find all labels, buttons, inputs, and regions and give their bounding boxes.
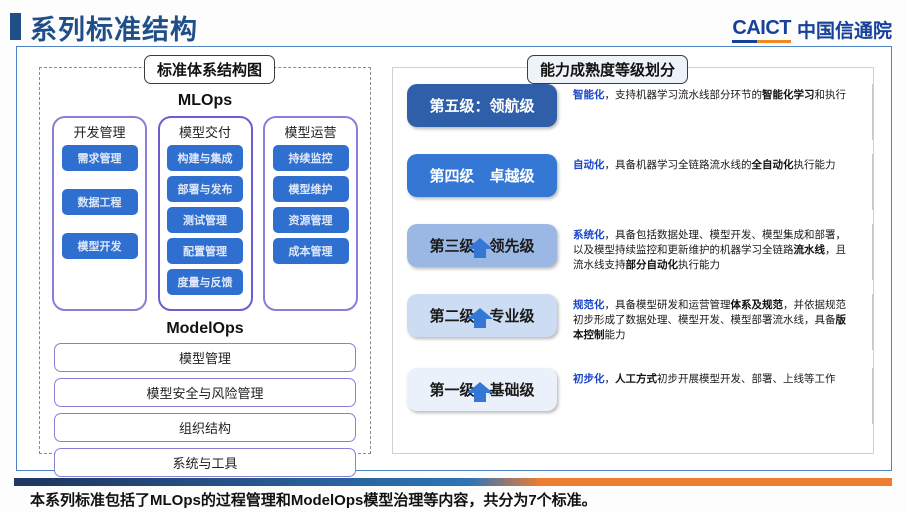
mlops-columns: 开发管理 需求管理 数据工程 模型开发 模型交付 构建与集成 部署与发布 测试管… [52, 116, 358, 311]
level-desc-suffix-1: 初步开展模型开发、部署、上线等工作 [657, 373, 836, 385]
level-desc-suffix2-3: 执行能力 [678, 259, 720, 271]
level-desc-suffix-4: 执行能力 [794, 159, 836, 171]
level-desc-bold-2: 体系及规范 [731, 299, 784, 311]
level-desc-5: 智能化，支持机器学习流水线部分环节的智能化学习和执行 [557, 84, 873, 140]
level-desc-suffix-5: 和执行 [815, 89, 847, 101]
level-desc-prefix-1: ， [605, 373, 616, 385]
level-row-2: 第二级：专业级 规范化，具备模型研发和运营管理体系及规范，并依据规范初步形成了数… [393, 294, 873, 368]
chip-requirement-mgmt[interactable]: 需求管理 [62, 145, 138, 171]
caict-logo: CAICT 中国信通院 [732, 16, 892, 43]
chip-build-integration[interactable]: 构建与集成 [167, 145, 243, 171]
title-accent-bar [10, 13, 21, 40]
slide-header: 系列标准结构 CAICT 中国信通院 [0, 0, 906, 46]
chip-model-maintenance[interactable]: 模型维护 [273, 176, 349, 202]
modelops-label: ModelOps [40, 320, 370, 338]
modelops-list: 模型管理 模型安全与风险管理 组织结构 系统与工具 [54, 343, 356, 483]
level-box-5[interactable]: 第五级：领航级 [407, 84, 557, 127]
level-desc-bold2-3: 部分自动化 [626, 259, 679, 271]
modelops-item-model-mgmt[interactable]: 模型管理 [54, 343, 356, 372]
maturity-levels-list: 第五级：领航级 智能化，支持机器学习流水线部分环节的智能化学习和执行 第四级：卓… [393, 84, 873, 438]
slide-root: 系列标准结构 CAICT 中国信通院 标准体系结构图 MLOps 开发管理 需求… [0, 0, 906, 512]
chip-cost-management[interactable]: 成本管理 [273, 238, 349, 264]
level-keyword-3: 系统化 [573, 229, 605, 241]
page-title: 系列标准结构 [30, 8, 198, 47]
column-header: 模型交付 [179, 122, 231, 141]
level-desc-prefix-2: ，具备模型研发和运营管理 [605, 299, 731, 311]
modelops-item-systems-tools[interactable]: 系统与工具 [54, 448, 356, 477]
level-row-5: 第五级：领航级 智能化，支持机器学习流水线部分环节的智能化学习和执行 [393, 84, 873, 154]
chip-continuous-monitoring[interactable]: 持续监控 [273, 145, 349, 171]
logo-text-cn: 中国信通院 [797, 16, 892, 43]
chip-config-management[interactable]: 配置管理 [167, 238, 243, 264]
column-model-operations: 模型运营 持续监控 模型维护 资源管理 成本管理 [263, 116, 358, 311]
column-header: 开发管理 [73, 122, 125, 141]
maturity-level-panel: 能力成熟度等级划分 第五级：领航级 智能化，支持机器学习流水线部分环节的智能化学… [392, 67, 874, 454]
mlops-label: MLOps [40, 92, 370, 110]
modelops-item-org-structure[interactable]: 组织结构 [54, 413, 356, 442]
level-row-3: 第三级：领先级 系统化，具备包括数据处理、模型开发、模型集成和部署，以及模型持续… [393, 224, 873, 294]
modelops-item-security-risk[interactable]: 模型安全与风险管理 [54, 378, 356, 407]
chip-metrics-feedback[interactable]: 度量与反馈 [167, 269, 243, 295]
level-keyword-5: 智能化 [573, 89, 605, 101]
left-panel-title: 标准体系结构图 [144, 55, 275, 84]
standard-architecture-panel: 标准体系结构图 MLOps 开发管理 需求管理 数据工程 模型开发 模型交付 构… [39, 67, 371, 454]
level-row-4: 第四级：卓越级 自动化，具备机器学习全链路流水线的全自动化执行能力 [393, 154, 873, 224]
level-desc-prefix-5: ，支持机器学习流水线部分环节的 [605, 89, 763, 101]
column-dev-management: 开发管理 需求管理 数据工程 模型开发 [52, 116, 147, 311]
level-desc-prefix-4: ，具备机器学习全链路流水线的 [605, 159, 752, 171]
chip-resource-management[interactable]: 资源管理 [273, 207, 349, 233]
right-panel-title: 能力成熟度等级划分 [527, 55, 688, 84]
level-desc-suffix2-2: 能力 [605, 329, 626, 341]
level-desc-bold-5: 智能化学习 [762, 89, 815, 101]
level-desc-3: 系统化，具备包括数据处理、模型开发、模型集成和部署，以及模型持续监控和更新维护的… [557, 224, 873, 280]
logo-text-en: CAICT [732, 17, 791, 43]
footer-caption: 本系列标准包括了MLOps的过程管理和ModelOps模型治理等内容，共分为7个… [30, 489, 597, 510]
level-desc-bold-4: 全自动化 [752, 159, 794, 171]
level-keyword-4: 自动化 [573, 159, 605, 171]
chip-model-development[interactable]: 模型开发 [62, 233, 138, 259]
column-header: 模型运营 [284, 122, 336, 141]
level-keyword-2: 规范化 [573, 299, 605, 311]
level-row-1: 第一级：基础级 初步化，人工方式初步开展模型开发、部署、上线等工作 [393, 368, 873, 438]
chip-test-management[interactable]: 测试管理 [167, 207, 243, 233]
chip-deploy-release[interactable]: 部署与发布 [167, 176, 243, 202]
level-desc-2: 规范化，具备模型研发和运营管理体系及规范，并依据规范初步形成了数据处理、模型开发… [557, 294, 873, 350]
level-keyword-1: 初步化 [573, 373, 605, 385]
level-desc-bold-3: 流水线 [794, 244, 826, 256]
chip-data-engineering[interactable]: 数据工程 [62, 189, 138, 215]
level-desc-4: 自动化，具备机器学习全链路流水线的全自动化执行能力 [557, 154, 873, 210]
level-desc-bold-1: 人工方式 [615, 373, 657, 385]
column-model-delivery: 模型交付 构建与集成 部署与发布 测试管理 配置管理 度量与反馈 [158, 116, 253, 311]
footer-gradient-bar [14, 478, 892, 486]
level-desc-1: 初步化，人工方式初步开展模型开发、部署、上线等工作 [557, 368, 873, 424]
content-frame: 标准体系结构图 MLOps 开发管理 需求管理 数据工程 模型开发 模型交付 构… [16, 46, 892, 471]
